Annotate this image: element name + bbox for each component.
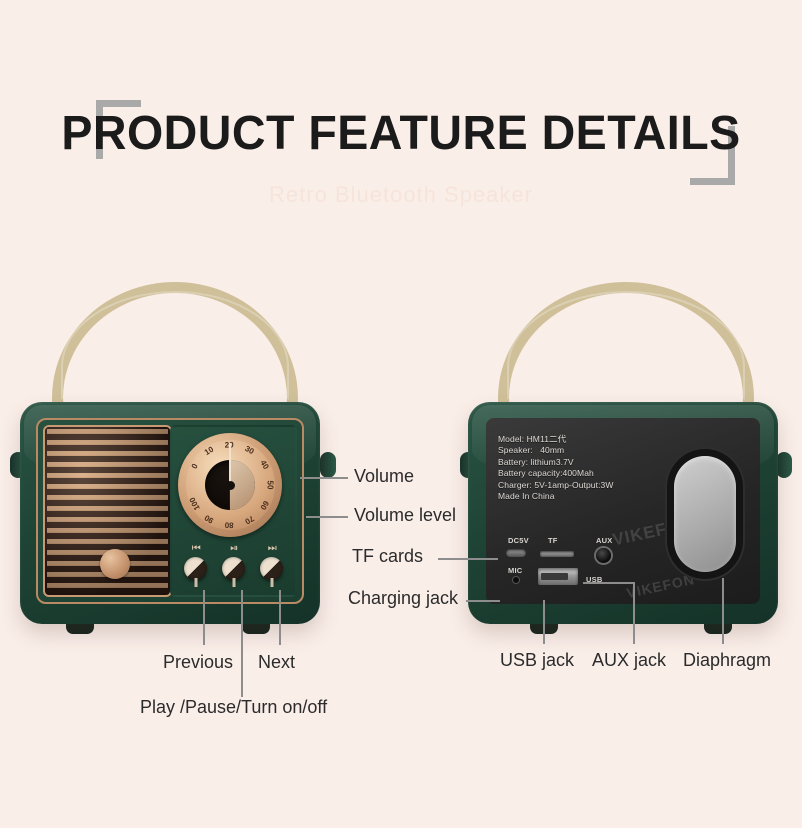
aux-port-label: AUX bbox=[596, 536, 612, 545]
leader-aux-jack bbox=[633, 582, 635, 644]
dial-tick-0: 0 bbox=[190, 462, 200, 470]
page-subtitle: Retro Bluetooth Speaker bbox=[0, 182, 802, 208]
specification-text: Model: HM11二代 Speaker: 40mm Battery: lit… bbox=[498, 434, 614, 502]
leader-charging-jack bbox=[466, 600, 500, 602]
label-diaphragm: Diaphragm bbox=[683, 650, 771, 671]
leader-usb-jack bbox=[543, 600, 545, 644]
label-next: Next bbox=[258, 652, 295, 673]
label-volume: Volume bbox=[354, 466, 414, 487]
previous-button[interactable]: ⏮ bbox=[184, 557, 207, 580]
dial-tick-60: 60 bbox=[259, 499, 271, 511]
usb-port[interactable] bbox=[538, 568, 578, 585]
aux-jack-port[interactable] bbox=[596, 548, 611, 563]
handle-hinge-right bbox=[320, 452, 336, 478]
dial-tick-80: 80 bbox=[225, 520, 234, 529]
front-view-speaker: 0102030405060708090100 ⏮ ⏯ bbox=[8, 280, 338, 650]
tf-port-label: TF bbox=[548, 536, 558, 545]
leader-previous bbox=[203, 590, 205, 645]
dial-tick-10: 10 bbox=[203, 445, 215, 457]
grille-knob[interactable] bbox=[100, 549, 130, 579]
dc-5v-port[interactable] bbox=[506, 549, 526, 557]
leader-aux-jack-h bbox=[583, 582, 634, 584]
previous-icon: ⏮ bbox=[192, 543, 200, 554]
dial-tick-90: 90 bbox=[203, 513, 215, 525]
product-feature-poster: PRODUCT FEATURE DETAILS Retro Bluetooth … bbox=[0, 0, 802, 828]
leader-tf-cards bbox=[438, 558, 498, 560]
leader-volume-level bbox=[306, 516, 348, 518]
dial-tick-30: 30 bbox=[244, 444, 256, 456]
back-view-speaker: Model: HM11二代 Speaker: 40mm Battery: lit… bbox=[458, 280, 794, 650]
tf-card-slot[interactable] bbox=[540, 551, 574, 557]
next-button[interactable]: ⏭ bbox=[260, 557, 283, 580]
speaker-grille bbox=[43, 425, 172, 597]
dc-port-label: DC5V bbox=[508, 536, 529, 545]
label-previous: Previous bbox=[163, 652, 233, 673]
control-panel: 0102030405060708090100 ⏮ ⏯ bbox=[170, 425, 297, 597]
dial-tick-70: 70 bbox=[244, 514, 256, 526]
passive-diaphragm bbox=[674, 456, 736, 572]
front-face-plate: 0102030405060708090100 ⏮ ⏯ bbox=[36, 418, 304, 604]
leader-next bbox=[279, 590, 281, 645]
mic-label: MIC bbox=[508, 566, 522, 575]
dial-pointer bbox=[229, 443, 231, 485]
leader-volume bbox=[300, 477, 348, 479]
handle-hinge-right-back bbox=[776, 452, 792, 478]
brand-watermark-secondary: VIKEFON bbox=[625, 571, 696, 601]
dial-tick-50: 50 bbox=[266, 481, 275, 490]
dial-tick-100: 100 bbox=[188, 496, 202, 512]
label-tf-cards: TF cards bbox=[352, 546, 423, 567]
speaker-body-back: Model: HM11二代 Speaker: 40mm Battery: lit… bbox=[468, 402, 778, 624]
volume-dial[interactable]: 0102030405060708090100 bbox=[178, 433, 282, 537]
label-volume-level: Volume level bbox=[354, 505, 456, 526]
page-title: PRODUCT FEATURE DETAILS bbox=[12, 106, 790, 161]
leader-play-pause bbox=[241, 590, 243, 697]
label-charging-jack: Charging jack bbox=[348, 588, 458, 609]
label-play-pause: Play /Pause/Turn on/off bbox=[140, 697, 327, 718]
label-aux-jack: AUX jack bbox=[592, 650, 666, 671]
microphone-hole bbox=[513, 577, 519, 583]
speaker-body-front: 0102030405060708090100 ⏮ ⏯ bbox=[20, 402, 320, 624]
leader-diaphragm bbox=[722, 578, 724, 644]
play-pause-button[interactable]: ⏯ bbox=[222, 557, 245, 580]
label-usb-jack: USB jack bbox=[500, 650, 574, 671]
dial-tick-40: 40 bbox=[259, 459, 271, 471]
back-face-plate: Model: HM11二代 Speaker: 40mm Battery: lit… bbox=[486, 418, 760, 604]
play-pause-icon: ⏯ bbox=[230, 543, 237, 554]
next-icon: ⏭ bbox=[268, 543, 276, 554]
